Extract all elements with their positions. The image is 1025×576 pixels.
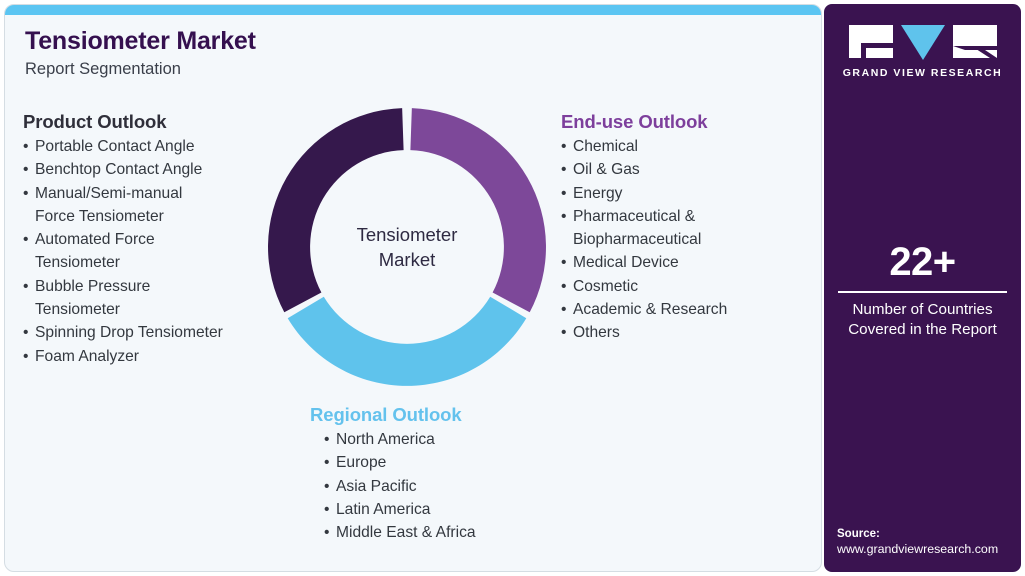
source-label: Source: [837, 528, 1017, 540]
list-item: Academic & Research [561, 298, 811, 321]
list-item: Manual/Semi-manual Force Tensiometer [23, 182, 288, 229]
page-subtitle: Report Segmentation [25, 60, 256, 79]
list-item: Automated Force Tensiometer [23, 228, 288, 275]
list-item: Chemical [561, 135, 811, 158]
list-item: Pharmaceutical & Biopharmaceutical [561, 205, 811, 252]
list-item: Europe [324, 451, 590, 474]
stat-value: 22+ [838, 240, 1007, 284]
donut-segment-enduse [410, 108, 546, 312]
list-item: Cosmetic [561, 275, 811, 298]
enduse-outlook-heading: End-use Outlook [561, 111, 811, 133]
main-panel: Tensiometer Market Report Segmentation P… [4, 4, 822, 572]
brand-logo: GRAND VIEW RESEARCH [824, 24, 1021, 79]
source-block: Source: www.grandviewresearch.com [837, 528, 1017, 556]
regional-outlook-list: North America Europe Asia Pacific Latin … [310, 428, 590, 544]
enduse-outlook-list: Chemical Oil & Gas Energy Pharmaceutical… [561, 135, 811, 345]
stat-block: 22+ Number of Countries Covered in the R… [838, 240, 1007, 340]
stat-label: Number of Countries Covered in the Repor… [838, 300, 1007, 340]
list-item: Bubble Pressure Tensiometer [23, 275, 288, 322]
list-item: Medical Device [561, 251, 811, 274]
stat-divider [838, 291, 1007, 293]
list-item: Others [561, 321, 811, 344]
source-url: www.grandviewresearch.com [837, 542, 1017, 556]
donut-segment-regional [288, 297, 527, 386]
list-item: Middle East & Africa [324, 521, 590, 544]
list-item: Latin America [324, 498, 590, 521]
product-outlook-list: Portable Contact Angle Benchtop Contact … [23, 135, 288, 368]
product-outlook-section: Product Outlook Portable Contact Angle B… [23, 111, 288, 368]
list-item: Spinning Drop Tensiometer [23, 321, 288, 344]
brand-wordmark: GRAND VIEW RESEARCH [824, 67, 1021, 79]
list-item: Foam Analyzer [23, 345, 288, 368]
list-item: Asia Pacific [324, 475, 590, 498]
regional-outlook-section: Regional Outlook North America Europe As… [310, 404, 590, 544]
page-title: Tensiometer Market [25, 27, 256, 56]
list-item: North America [324, 428, 590, 451]
list-item: Oil & Gas [561, 158, 811, 181]
list-item: Energy [561, 182, 811, 205]
regional-outlook-heading: Regional Outlook [310, 404, 590, 426]
sidebar: GRAND VIEW RESEARCH 22+ Number of Countr… [824, 4, 1021, 572]
product-outlook-heading: Product Outlook [23, 111, 288, 133]
top-accent-bar [5, 5, 821, 15]
list-item: Benchtop Contact Angle [23, 158, 288, 181]
title-block: Tensiometer Market Report Segmentation [25, 27, 256, 79]
list-item: Portable Contact Angle [23, 135, 288, 158]
donut-segment-product [268, 108, 404, 312]
donut-chart-svg [263, 101, 551, 393]
enduse-outlook-section: End-use Outlook Chemical Oil & Gas Energ… [561, 111, 811, 345]
infographic-root: Tensiometer Market Report Segmentation P… [0, 0, 1025, 576]
donut-chart: Tensiometer Market [263, 101, 551, 393]
gvr-logo-icon [849, 24, 997, 60]
